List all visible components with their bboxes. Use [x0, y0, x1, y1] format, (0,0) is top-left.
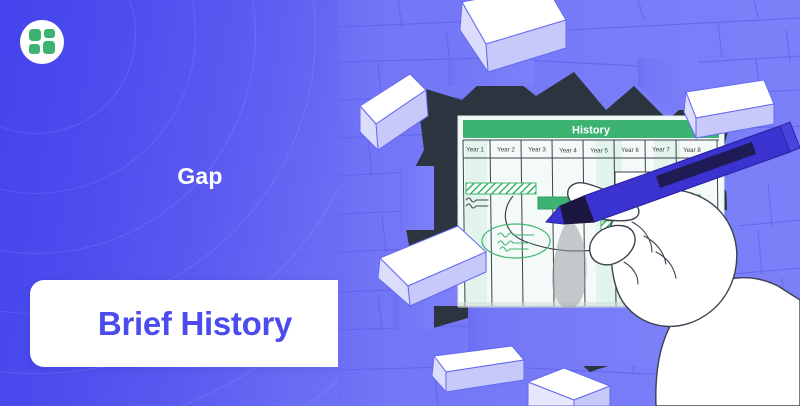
svg-text:Year 7: Year 7 [652, 147, 670, 154]
hole-edge-step-left [400, 166, 434, 230]
svg-text:Year 2: Year 2 [497, 147, 515, 154]
illustration-svg: History Year 1 Year 2 Year 3 Year 4 Year… [338, 0, 800, 406]
svg-text:Year 6: Year 6 [621, 147, 639, 154]
slide-canvas: Gap Brief History [0, 0, 800, 406]
svg-text:Year 1: Year 1 [466, 147, 484, 154]
page-title: Brief History [98, 305, 292, 343]
logo-square-bottom-left-icon [29, 44, 40, 54]
svg-text:Year 8: Year 8 [683, 147, 701, 154]
logo-square-top-right-icon [44, 29, 55, 38]
svg-text:Year 3: Year 3 [528, 147, 546, 154]
svg-text:Year 5: Year 5 [590, 148, 608, 155]
logo-square-top-left-icon [29, 29, 41, 41]
logo-square-bottom-right-icon [43, 41, 55, 54]
svg-text:Year 4: Year 4 [559, 148, 577, 155]
title-card: Brief History [30, 280, 360, 367]
board-banner-title: History [572, 125, 611, 137]
illustration-broken-wall: History Year 1 Year 2 Year 3 Year 4 Year… [338, 0, 800, 406]
gantt-bar-hatched-1 [466, 183, 536, 194]
brand-logo[interactable] [20, 20, 64, 64]
